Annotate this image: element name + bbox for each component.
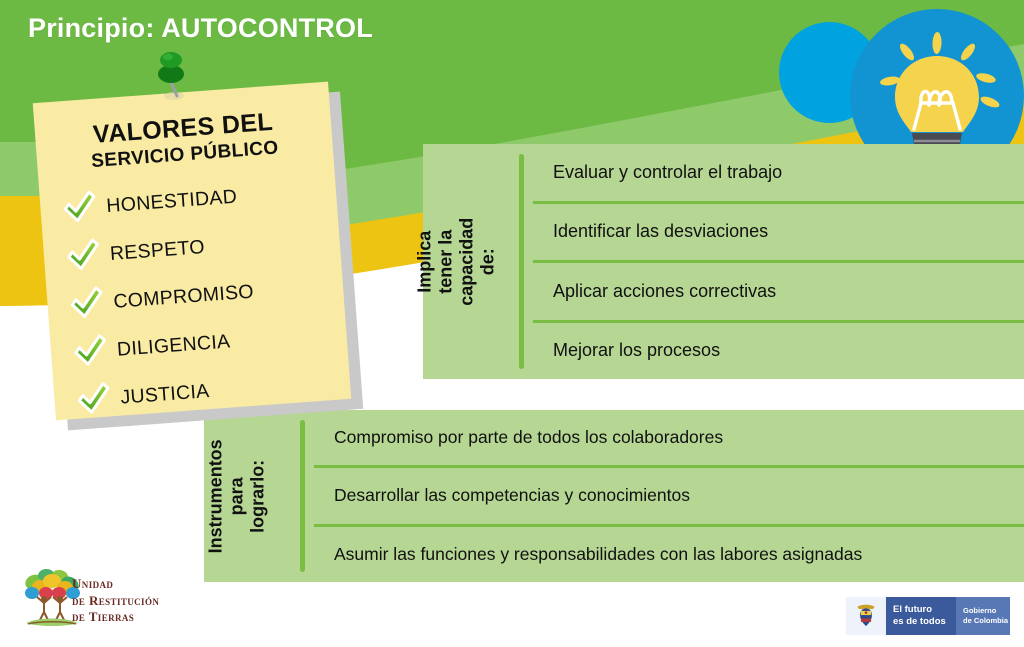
list-item[interactable]: Compromiso por parte de todos los colabo… [314,410,1024,465]
value-label: HONESTIDAD [106,185,238,218]
sticky-note-values: VALORES DEL SERVICIO PÚBLICO HONESTIDAD … [33,82,351,421]
gov-slogan-line1: El futuro [893,604,956,616]
gov-slogan-line2: es de todos [893,616,956,628]
value-label: JUSTICIA [120,380,211,409]
panel-implica-capacidad: Implica tener la capacidad de: Evaluar y… [423,144,1024,379]
value-label: DILIGENCIA [116,330,231,361]
check-icon [66,284,107,325]
panel-2-divider-bar [300,420,305,572]
page-title: Principio: AUTOCONTROL [28,13,373,44]
panel-1-items: Evaluar y controlar el trabajo Identific… [533,144,1024,379]
urt-line3: de Tierras [72,609,159,626]
value-label: RESPETO [109,236,205,266]
values-list: HONESTIDAD RESPETO COMPROMISO DILIGENCIA [59,170,344,429]
list-item[interactable]: Asumir las funciones y responsabilidades… [314,524,1024,582]
panel-1-divider-bar [519,154,524,369]
list-item[interactable]: Desarrollar las competencias y conocimie… [314,465,1024,523]
gov-entity-line1: Gobierno [963,606,1010,616]
check-icon [59,188,100,229]
gov-entity-line2: de Colombia [963,616,1010,626]
list-item[interactable]: Evaluar y controlar el trabajo [533,144,1024,201]
panel-2-label: Instrumentos para lograrlo: [206,439,269,553]
urt-wordmark: Unidad de Restitución de Tierras [72,576,159,626]
urt-line2: de Restitución [72,593,159,610]
list-item: JUSTICIA [73,361,343,421]
panel-2-items: Compromiso por parte de todos los colabo… [314,410,1024,582]
urt-line1: Unidad [72,576,159,593]
gobierno-de-colombia-logo: El futuro es de todos Gobierno de Colomb… [846,597,1010,635]
panel-instrumentos: Instrumentos para lograrlo: Compromiso p… [204,410,1024,582]
check-icon [70,331,111,372]
list-item[interactable]: Aplicar acciones correctivas [533,260,1024,320]
push-pin-icon [150,46,194,104]
panel-1-label-wrapper: Implica tener la capacidad de: [423,144,489,379]
list-item[interactable]: Mejorar los procesos [533,320,1024,380]
colombia-coat-of-arms-icon [846,597,886,635]
gov-slogan: El futuro es de todos [886,597,956,635]
check-icon [73,379,114,420]
slide-canvas: Principio: AUTOCONTROL [0,0,1024,647]
note-heading: VALORES DEL SERVICIO PÚBLICO [34,104,333,178]
check-icon [63,236,104,277]
value-label: COMPROMISO [113,280,255,313]
panel-1-label: Implica tener la capacidad de: [414,217,498,305]
panel-2-label-wrapper: Instrumentos para lograrlo: [204,410,270,582]
gov-entity: Gobierno de Colombia [956,597,1010,635]
list-item[interactable]: Identificar las desviaciones [533,201,1024,261]
